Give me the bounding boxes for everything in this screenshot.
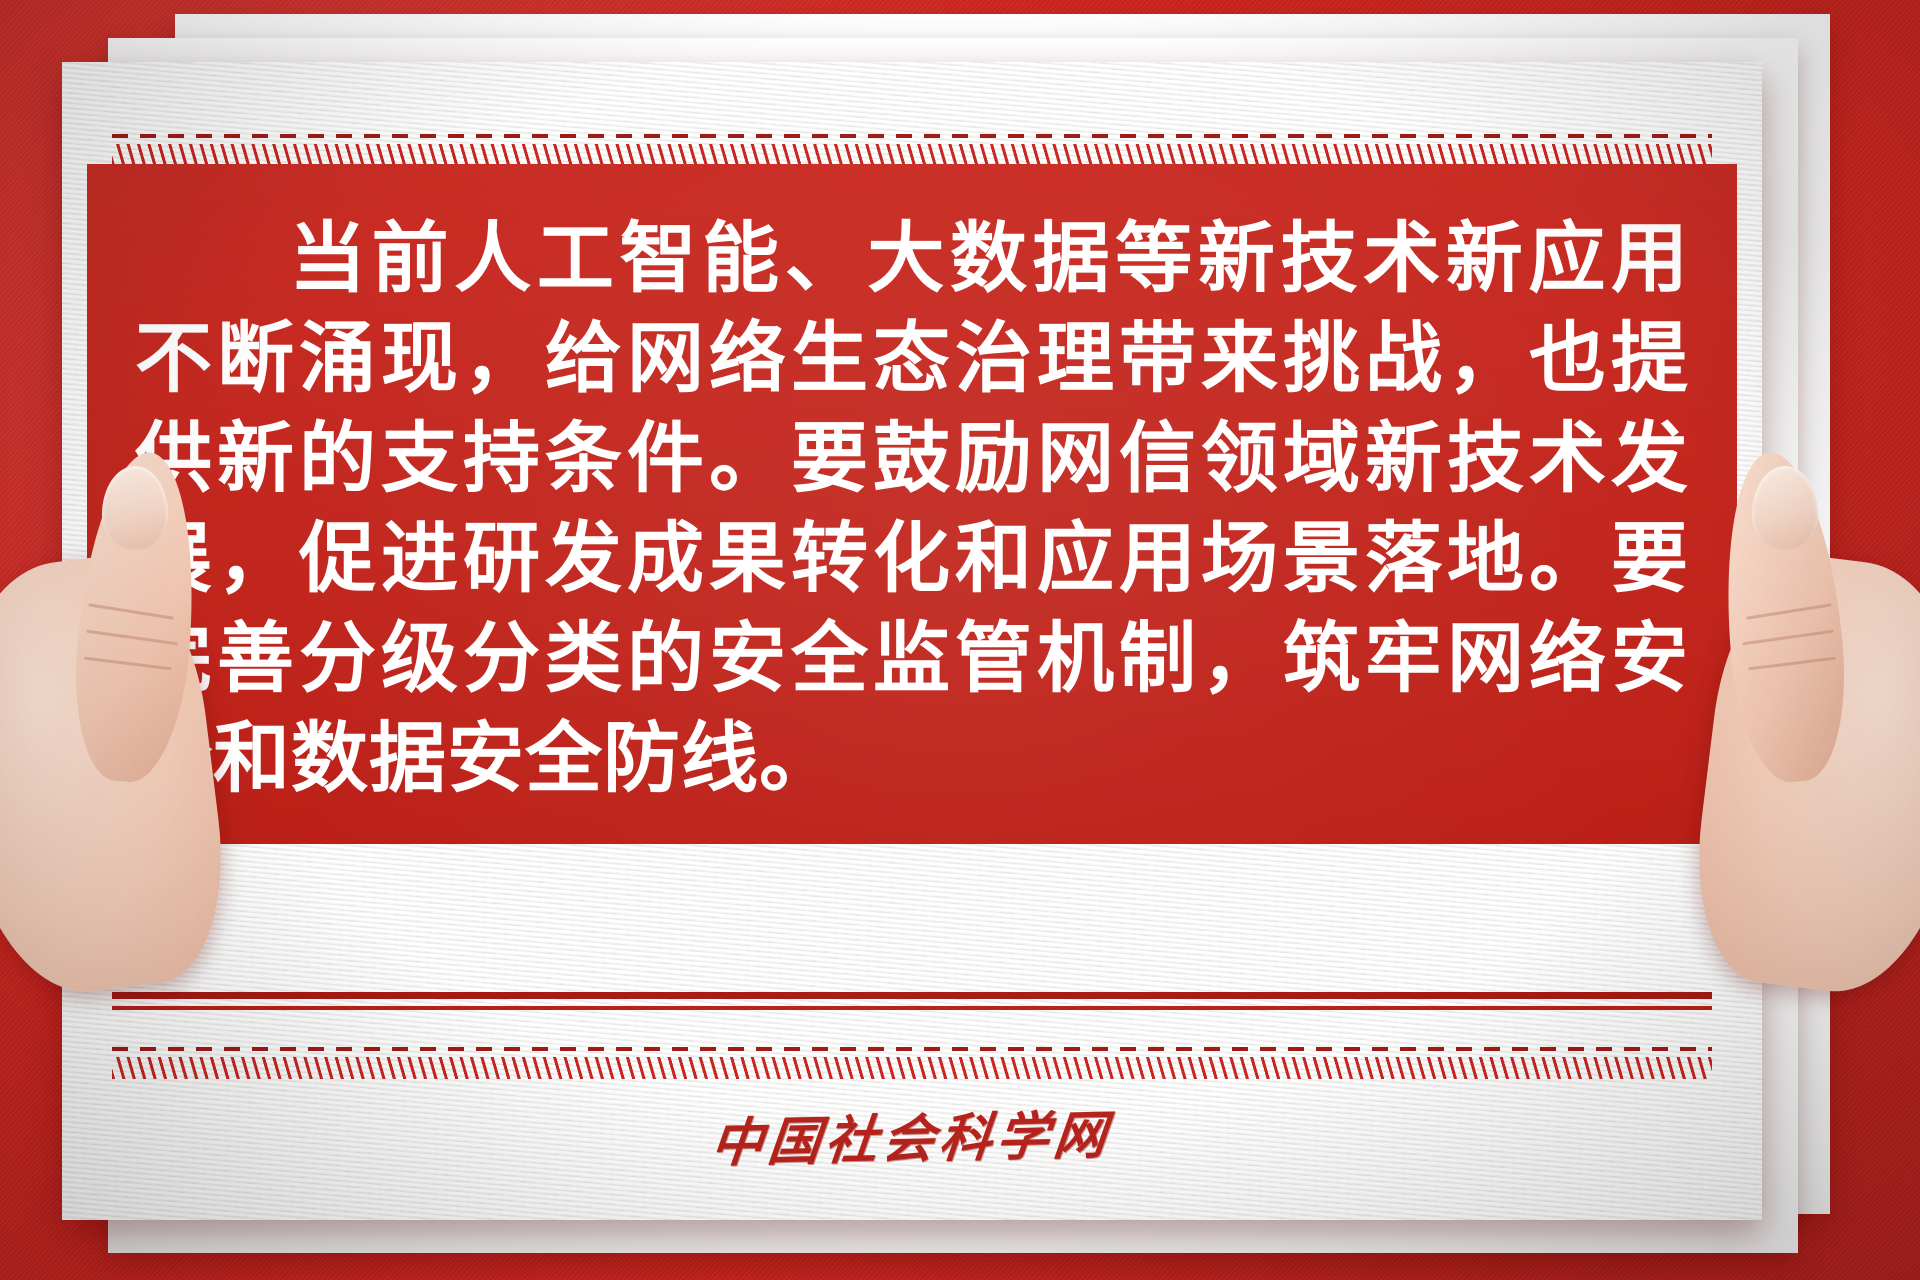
poster-canvas: 当前人工智能、大数据等新技术新应用不断涌现，给网络生态治理带来挑战，也提供新的支… [0, 0, 1920, 1280]
brand-logo-text: 中国社会科学网 [708, 1093, 1116, 1176]
brand-logo: 中国社会科学网 [62, 1097, 1762, 1172]
quote-panel: 当前人工智能、大数据等新技术新应用不断涌现，给网络生态治理带来挑战，也提供新的支… [87, 164, 1737, 844]
top-dashed-rule [112, 134, 1712, 138]
bottom-thin-rule [112, 1006, 1712, 1010]
bottom-dashed-rule [112, 1047, 1712, 1051]
top-hatch-rule [112, 144, 1712, 166]
quote-body-text: 当前人工智能、大数据等新技术新应用不断涌现，给网络生态治理带来挑战，也提供新的支… [135, 209, 1689, 810]
quote-card: 当前人工智能、大数据等新技术新应用不断涌现，给网络生态治理带来挑战，也提供新的支… [62, 62, 1762, 1220]
bottom-hatch-rule [112, 1057, 1712, 1079]
bottom-thick-rule [112, 992, 1712, 999]
